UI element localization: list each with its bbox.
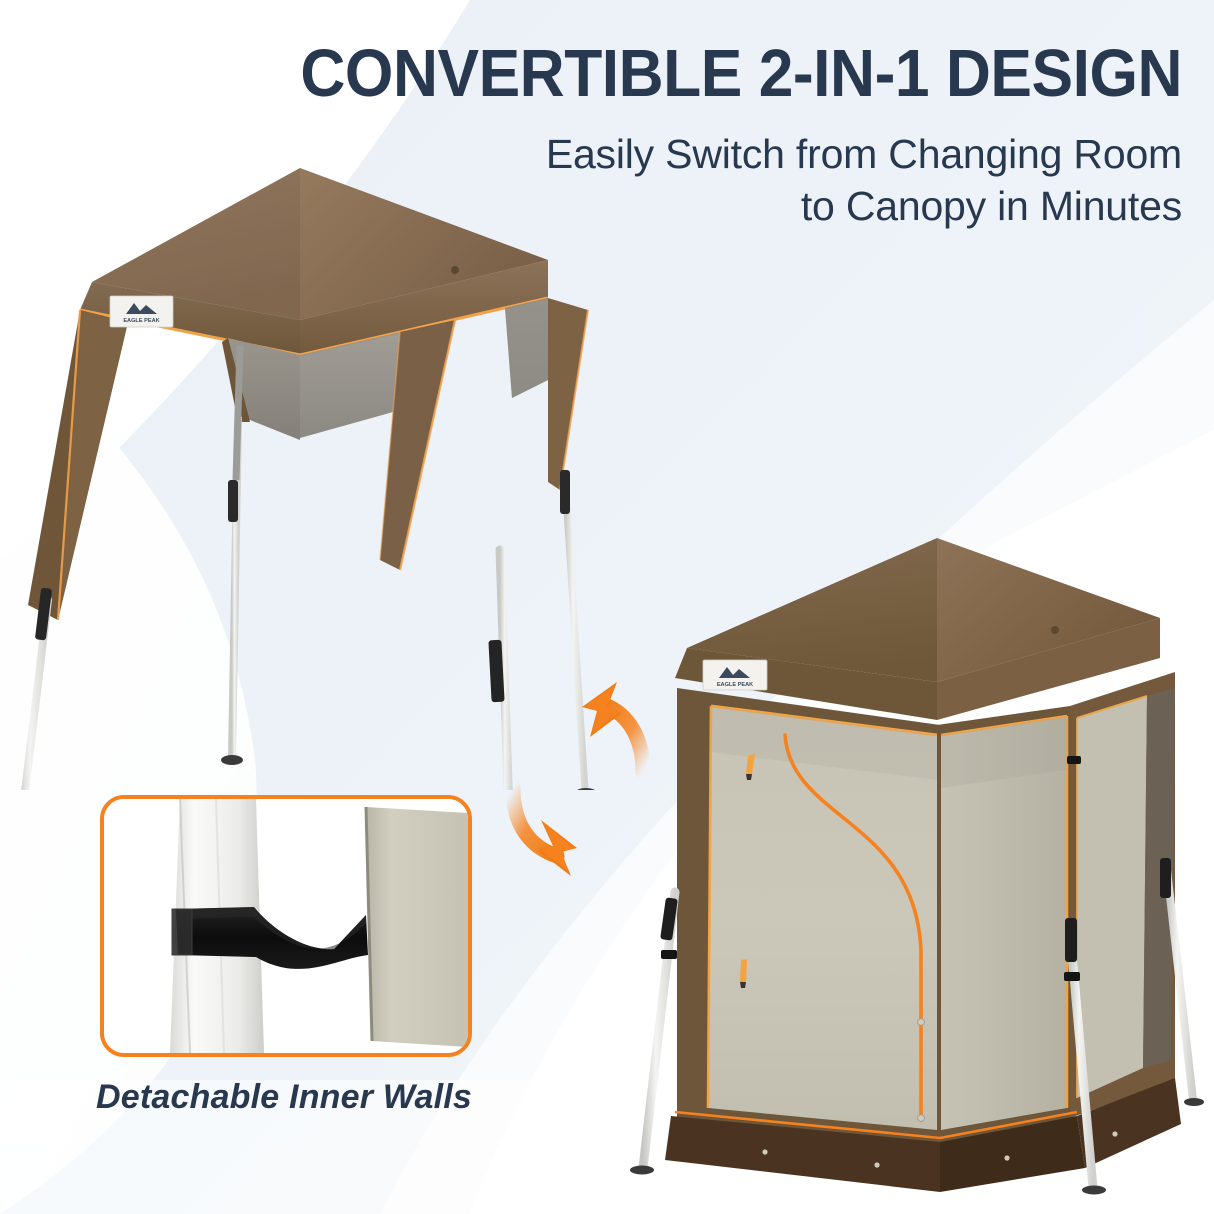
convert-to-changing-room-arrow — [513, 788, 577, 876]
subtitle-line-2: to Canopy in Minutes — [150, 181, 1182, 233]
detachable-inner-walls-detail-inset — [100, 795, 472, 1057]
changing-room-grommet — [1051, 626, 1059, 634]
velcro-strap — [1064, 972, 1080, 981]
brand-name-text: EAGLE PEAK — [717, 682, 753, 688]
canopy-grommet — [451, 266, 459, 274]
header-text-block: CONVERTIBLE 2-IN-1 DESIGN Easily Switch … — [150, 40, 1182, 232]
canopy-brand-label: EAGLE PEAK — [110, 296, 173, 327]
convert-to-canopy-arrow — [582, 682, 643, 772]
velcro-strap — [661, 950, 677, 959]
changing-room-right-front-wall — [937, 706, 1070, 1144]
subtitle-line-1: Easily Switch from Changing Room — [150, 129, 1182, 181]
brand-name-text: EAGLE PEAK — [123, 318, 159, 324]
conversion-arrows — [505, 680, 695, 880]
velcro-strap-closeup — [104, 799, 468, 1053]
changing-room-side-wall — [1070, 672, 1175, 1118]
velcro-strap — [1067, 756, 1081, 764]
inner-wall-panel — [362, 805, 468, 1047]
changing-room-brand-label: EAGLE PEAK — [703, 660, 767, 690]
changing-room-front-wall — [677, 688, 940, 1144]
inset-caption: Detachable Inner Walls — [96, 1078, 576, 1117]
changing-room-product-photo: EAGLE PEAK — [615, 520, 1214, 1214]
page-subtitle: Easily Switch from Changing Room to Cano… — [150, 129, 1182, 232]
page-title: CONVERTIBLE 2-IN-1 DESIGN — [222, 40, 1182, 107]
